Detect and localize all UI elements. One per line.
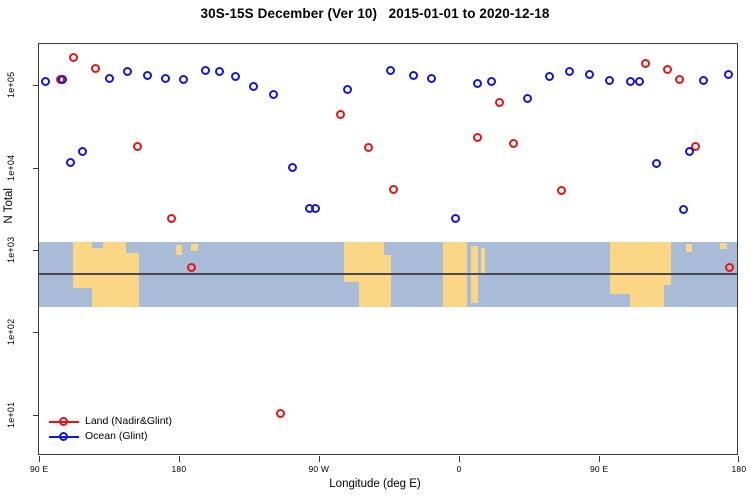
y-tick (33, 332, 39, 333)
y-tick (33, 168, 39, 169)
x-tick-label: 90 E (590, 464, 608, 474)
data-point-land (336, 110, 345, 119)
x-tick-label: 0 (457, 464, 462, 474)
data-point-ocean (585, 70, 594, 79)
data-point-ocean (231, 72, 240, 81)
x-tick-label: 180 (732, 464, 747, 474)
data-point-land (364, 143, 373, 152)
y-tick (33, 250, 39, 251)
map-inset-band (39, 242, 737, 307)
data-point-ocean (78, 147, 87, 156)
y-tick-label: 1e+05 (6, 69, 17, 101)
legend: Land (Nadir&Glint) Ocean (Glint) (45, 412, 176, 446)
map-landmass (481, 248, 486, 275)
x-tick (179, 456, 180, 462)
x-tick-label: 90 E (30, 464, 48, 474)
data-point-ocean (201, 66, 210, 75)
y-tick-label: 1e+01 (6, 399, 17, 431)
data-point-land (69, 53, 78, 62)
data-point-land (509, 139, 518, 148)
data-point-ocean (626, 77, 635, 86)
data-point-land (663, 65, 672, 74)
map-landmass (176, 245, 182, 255)
y-axis-title: N Total (3, 0, 15, 412)
data-point-land (641, 59, 650, 68)
legend-label-land: Land (Nadir&Glint) (85, 414, 172, 429)
legend-item-land: Land (Nadir&Glint) (49, 414, 172, 429)
data-point-ocean (565, 67, 574, 76)
data-point-land (557, 186, 566, 195)
data-point-ocean (66, 158, 75, 167)
data-point-ocean (427, 74, 436, 83)
data-point-ocean (105, 74, 114, 83)
y-tick-label: 1e+02 (6, 316, 17, 348)
x-axis-title: Longitude (deg E) (0, 478, 750, 490)
data-point-ocean (409, 71, 418, 80)
y-tick (33, 415, 39, 416)
data-point-land (167, 214, 176, 223)
legend-marker-ocean-icon (49, 431, 79, 442)
data-point-land (133, 142, 142, 151)
data-point-land (495, 98, 504, 107)
y-tick-label: 1e+03 (6, 234, 17, 266)
x-tick (319, 456, 320, 462)
data-point-land (276, 409, 285, 418)
data-point-ocean (123, 67, 132, 76)
chart-title: 30S-15S December (Ver 10) 2015-01-01 to … (0, 6, 750, 21)
map-landmass (92, 248, 103, 306)
data-point-ocean (58, 75, 67, 84)
legend-item-ocean: Ocean (Glint) (49, 429, 172, 444)
data-point-ocean (249, 82, 258, 91)
data-point-ocean (215, 67, 224, 76)
data-point-ocean (635, 77, 644, 86)
x-tick-label: 180 (172, 464, 187, 474)
data-point-ocean (269, 90, 278, 99)
data-point-ocean (41, 77, 50, 86)
map-landmass (126, 253, 138, 306)
legend-marker-land-icon (49, 416, 79, 427)
data-point-ocean (605, 76, 614, 85)
map-landmass (655, 242, 671, 285)
map-landmass (686, 244, 692, 252)
data-point-ocean (288, 163, 297, 172)
data-point-ocean (685, 147, 694, 156)
data-point-land (91, 64, 100, 73)
y-tick-label: 1e+04 (6, 152, 17, 184)
data-point-ocean (679, 205, 688, 214)
figure: 30S-15S December (Ver 10) 2015-01-01 to … (0, 0, 750, 500)
map-landmass (372, 255, 391, 307)
data-point-ocean (143, 71, 152, 80)
map-center-line (39, 273, 737, 275)
y-axis-title-label: N Total (3, 188, 15, 224)
data-point-ocean (386, 66, 395, 75)
data-point-land (389, 185, 398, 194)
data-point-land (187, 263, 196, 272)
x-tick (738, 456, 739, 462)
data-point-ocean (311, 204, 320, 213)
data-point-ocean (161, 74, 170, 83)
data-point-ocean (652, 159, 661, 168)
data-point-ocean (545, 72, 554, 81)
data-point-ocean (473, 79, 482, 88)
legend-label-ocean: Ocean (Glint) (85, 429, 147, 444)
data-point-land (675, 75, 684, 84)
map-landmass (191, 244, 197, 250)
data-point-ocean (523, 94, 532, 103)
map-landmass (720, 243, 726, 249)
x-tick (599, 456, 600, 462)
data-point-ocean (487, 77, 496, 86)
data-point-ocean (451, 214, 460, 223)
y-tick (33, 85, 39, 86)
data-point-land (473, 133, 482, 142)
x-tick (39, 456, 40, 462)
data-point-ocean (724, 70, 733, 79)
x-tick (459, 456, 460, 462)
plot-area: 1e+011e+021e+031e+041e+05 90 E18090 W090… (38, 43, 738, 455)
data-point-ocean (343, 85, 352, 94)
data-point-ocean (179, 75, 188, 84)
plot-clip (39, 44, 737, 454)
data-point-ocean (699, 76, 708, 85)
x-tick-label: 90 W (309, 464, 330, 474)
map-landmass (73, 242, 92, 289)
